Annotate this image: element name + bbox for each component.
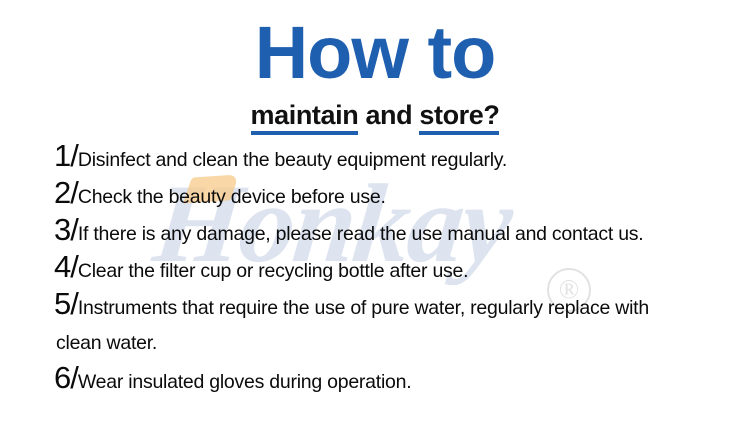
- instruction-graphic: Honkay ® How to maintain and store? 1/Di…: [0, 0, 750, 444]
- list-item-text: Clear the filter cup or recycling bottle…: [78, 260, 468, 282]
- page-title: How to: [0, 16, 750, 90]
- list-item-text: Disinfect and clean the beauty equipment…: [78, 149, 507, 171]
- subtitle-word-maintain: maintain: [251, 100, 359, 135]
- list-item-text: Wear insulated gloves during operation.: [78, 371, 412, 393]
- subtitle-word-store: store?: [419, 100, 499, 135]
- list-item-text: Instruments that require the use of pure…: [78, 297, 649, 319]
- subtitle-word-and: and: [358, 100, 419, 130]
- list-item-number: 5/: [54, 286, 78, 321]
- list-item: 3/If there is any damage, please read th…: [54, 214, 744, 246]
- list-item: 2/Check the beauty device before use.: [54, 177, 744, 209]
- list-item: 4/Clear the filter cup or recycling bott…: [54, 251, 744, 283]
- list-item-number: 4/: [54, 249, 78, 284]
- list-item: 5/Instruments that require the use of pu…: [54, 288, 744, 320]
- list-item-number: 3/: [54, 212, 78, 247]
- list-item-text: If there is any damage, please read the …: [78, 223, 644, 245]
- list-item-text-continuation: clean water.: [54, 332, 744, 355]
- list-item: 6/Wear insulated gloves during operation…: [54, 362, 744, 394]
- page-subtitle: maintain and store?: [0, 100, 750, 130]
- list-item-text: Check the beauty device before use.: [78, 186, 386, 208]
- list-item-number: 2/: [54, 175, 78, 210]
- list-item-number: 1/: [54, 138, 78, 173]
- list-item-number: 6/: [54, 360, 78, 395]
- list-item: 1/Disinfect and clean the beauty equipme…: [54, 140, 744, 172]
- instruction-list: 1/Disinfect and clean the beauty equipme…: [54, 140, 744, 399]
